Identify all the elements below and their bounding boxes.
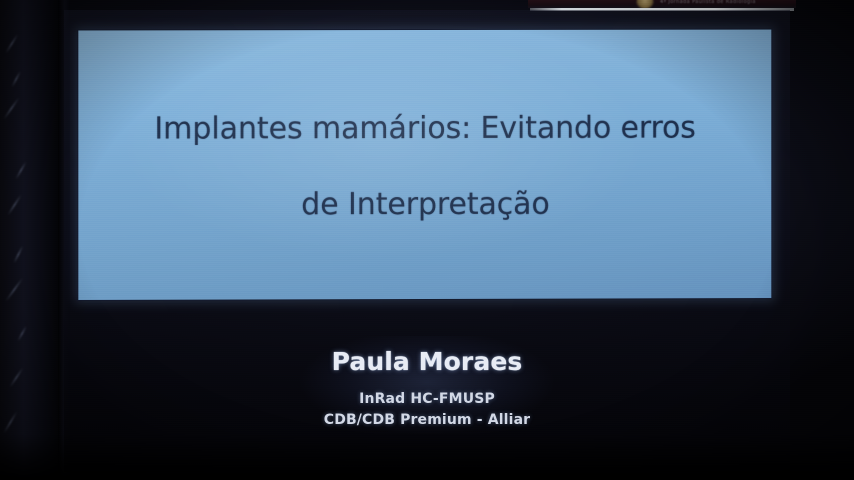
light-streak xyxy=(7,194,22,215)
light-streak xyxy=(5,278,23,302)
light-streak xyxy=(17,326,27,342)
light-streak xyxy=(3,97,20,119)
light-streak xyxy=(15,161,27,179)
slide-title-line-1: Implantes mamários: Evitando erros xyxy=(154,111,695,147)
slide-title-line-2: de Interpretação xyxy=(78,189,771,221)
presenter-affiliation: InRad HC-FMUSP CDB/CDB Premium - Alliar xyxy=(0,389,854,432)
light-streak xyxy=(13,246,23,264)
light-streak xyxy=(11,71,21,88)
presenter-block: Paula Moraes InRad HC-FMUSP CDB/CDB Prem… xyxy=(0,348,854,432)
presenter-affiliation-line-1: InRad HC-FMUSP xyxy=(359,391,495,407)
presenter-name: Paula Moraes xyxy=(0,348,854,376)
light-streak xyxy=(5,34,18,54)
slide-title: Implantes mamários: Evitando erros de In… xyxy=(78,113,771,220)
presenter-affiliation-line-2: CDB/CDB Premium - Alliar xyxy=(0,410,854,432)
slide-panel: Implantes mamários: Evitando erros de In… xyxy=(78,30,771,300)
banner-text: 4ª Jornada Paulista de Radiologia xyxy=(660,0,756,5)
presentation-capture-frame: 4ª Jornada Paulista de Radiologia Implan… xyxy=(0,0,854,480)
